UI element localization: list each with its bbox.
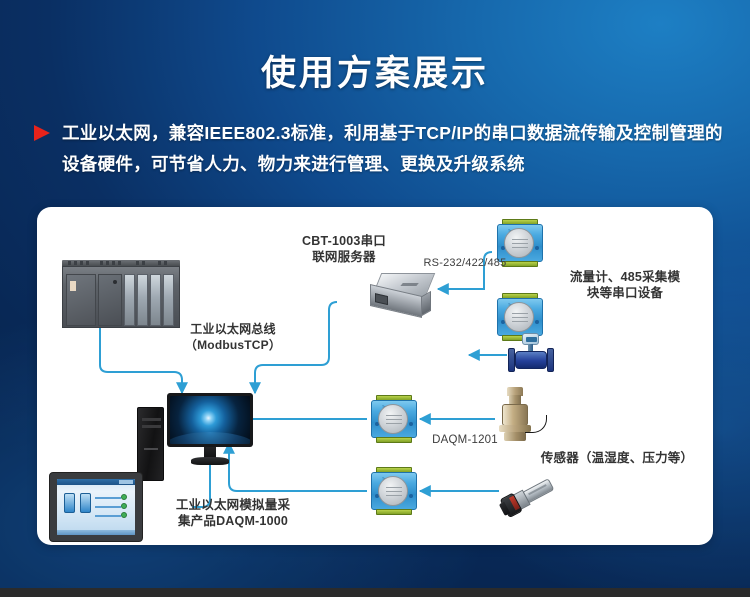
electromagnetic-flowmeter[interactable] xyxy=(507,333,555,377)
label-daqm-1000: 工业以太网模拟量采 集产品DAQM-1000 xyxy=(155,497,311,529)
description-row: 工业以太网，兼容IEEE802.3标准，利用基于TCP/IP的串口数据流传输及控… xyxy=(34,118,724,180)
desktop-computer[interactable] xyxy=(137,393,253,467)
daqm-1201-module[interactable]: Tcone xyxy=(369,395,419,443)
bottom-strip xyxy=(0,588,750,597)
plc-io-slot xyxy=(124,274,135,326)
label-serial-devices: 流量计、485采集模 块等串口设备 xyxy=(555,269,695,301)
label-sensors: 传感器（温湿度、压力等） xyxy=(519,450,713,466)
computer-monitor xyxy=(167,393,253,467)
description-text: 工业以太网，兼容IEEE802.3标准，利用基于TCP/IP的串口数据流传输及控… xyxy=(62,118,724,180)
label-cbt-server: CBT-1003串口 联网服务器 xyxy=(289,233,399,265)
plc-cpu-module xyxy=(66,274,96,326)
daqm-1000-module[interactable]: Tcone xyxy=(369,467,419,515)
plc-rack[interactable] xyxy=(62,260,180,328)
hmi-screen xyxy=(57,479,135,535)
wire-plc-to-computer xyxy=(100,327,182,393)
plc-io-slot xyxy=(150,274,161,326)
computer-tower xyxy=(137,407,164,481)
label-daqm-1201: DAQM-1201 xyxy=(421,432,509,448)
diagram-panel: Tcone Tcone Tcone Tcone xyxy=(37,207,713,545)
plc-io-slot xyxy=(163,274,174,326)
page-title: 使用方案展示 xyxy=(0,45,750,96)
label-serial-standard: RS-232/422/485 xyxy=(411,255,519,271)
plc-module xyxy=(98,274,122,326)
triangle-right-icon xyxy=(34,125,50,141)
plc-io-slot xyxy=(137,274,148,326)
plc-body xyxy=(62,266,180,328)
label-ethernet-bus: 工业以太网总线 （ModbusTCP） xyxy=(175,321,291,353)
hmi-touch-panel[interactable] xyxy=(49,472,143,542)
serial-server-cbt1003[interactable] xyxy=(370,273,432,317)
